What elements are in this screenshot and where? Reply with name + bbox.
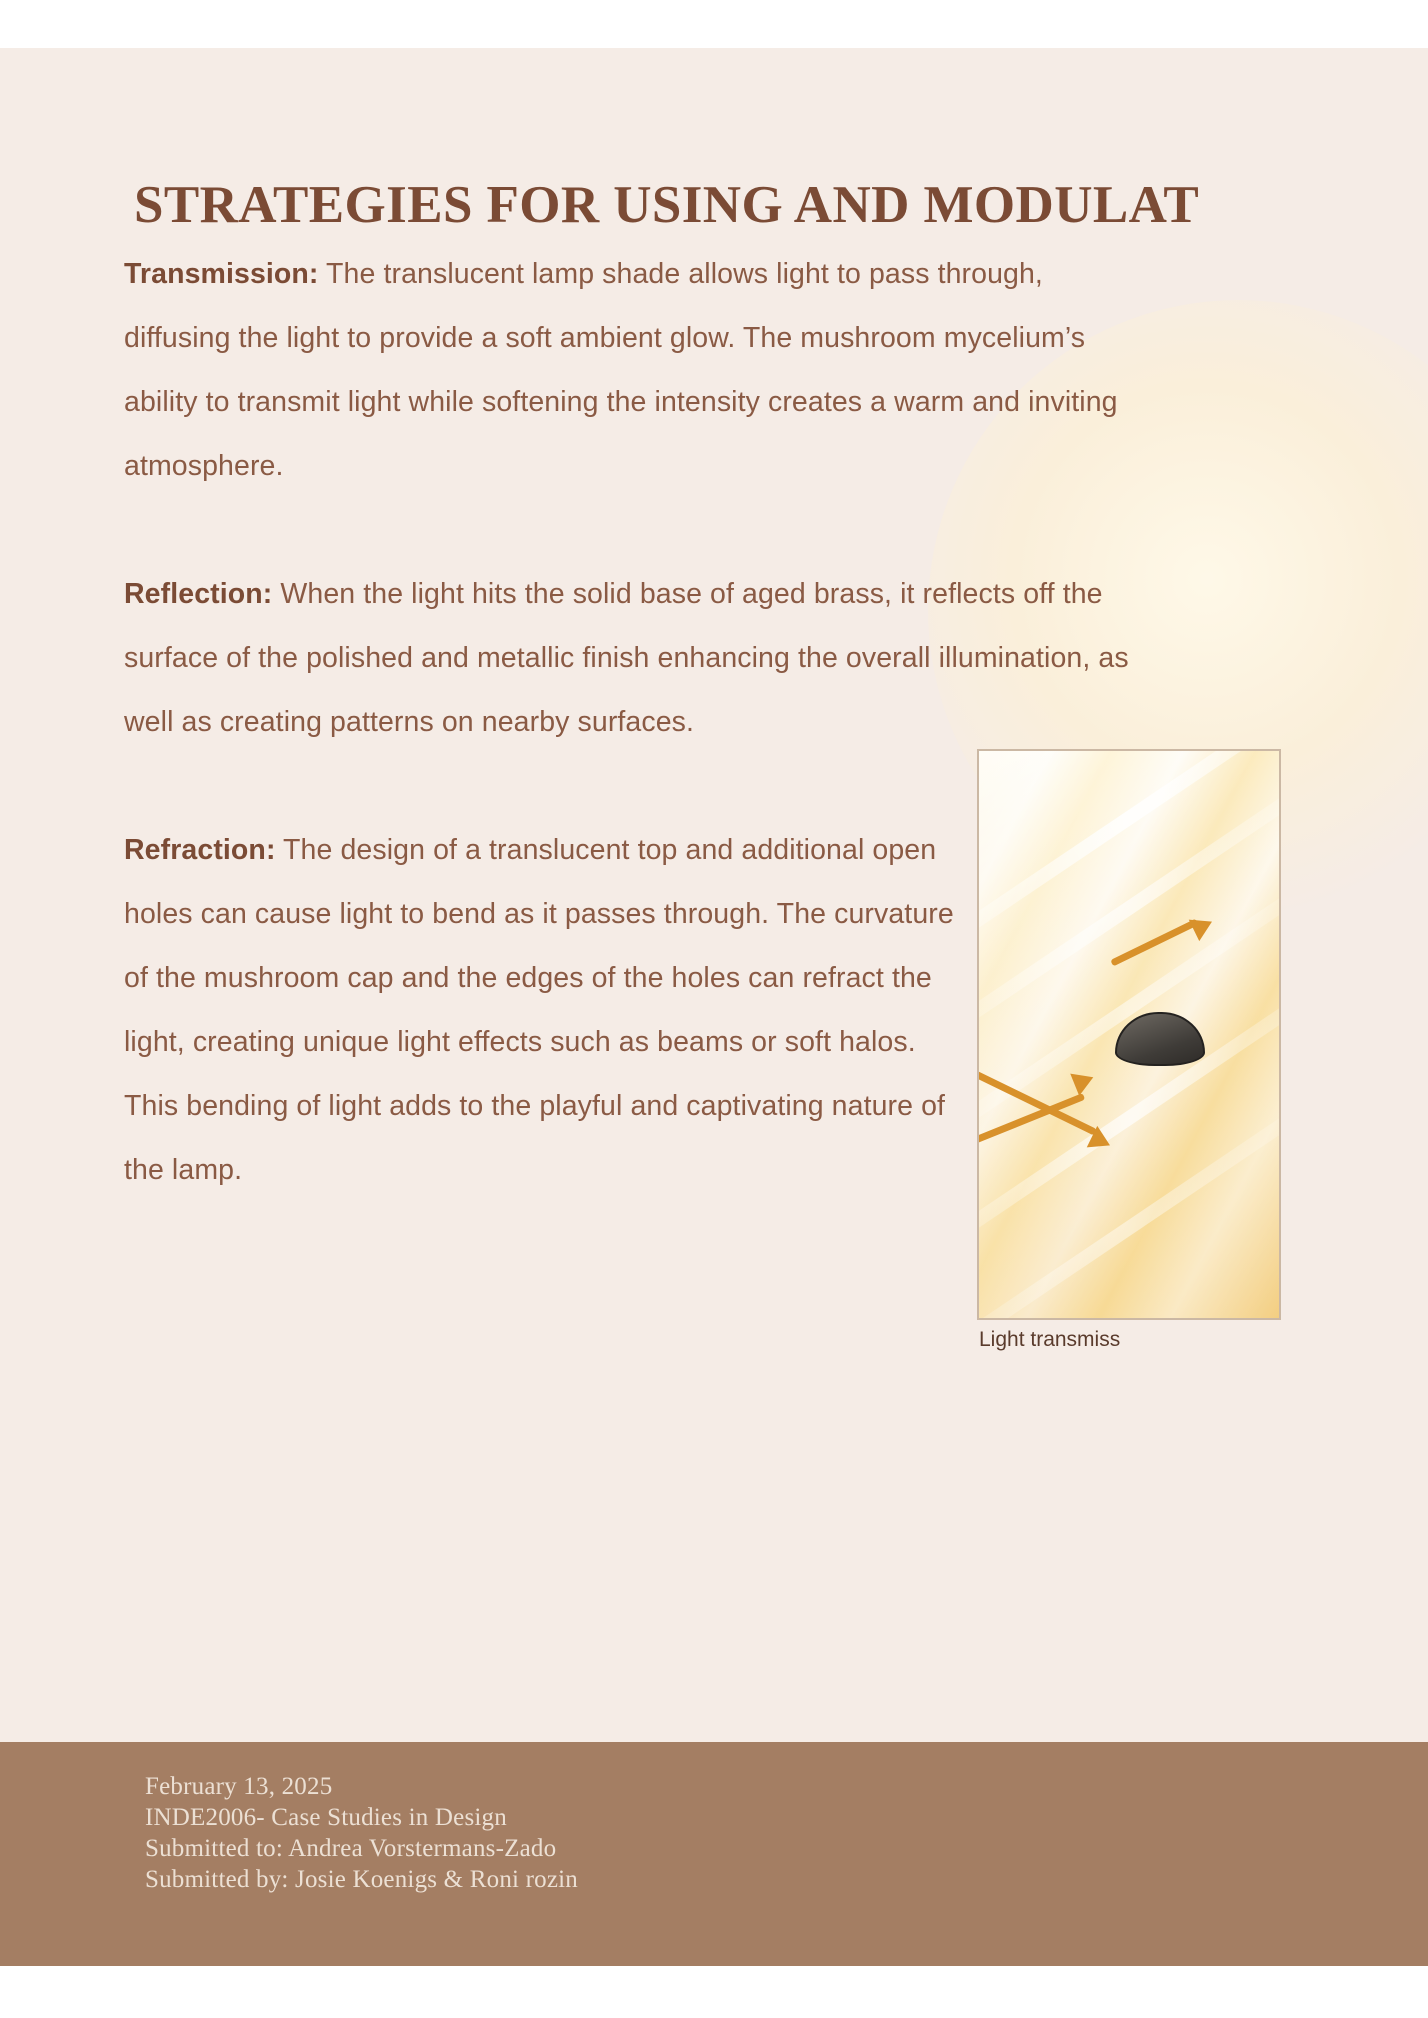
light-streak-icon [977, 751, 1281, 1065]
paragraph-lead-refraction: Refraction: [124, 834, 276, 866]
paragraph-text-refraction: The design of a translucent top and addi… [124, 834, 954, 1186]
footer-submitted-by: Submitted by: Josie Koenigs & Roni rozin [145, 1864, 578, 1895]
paragraph-reflection: Reflection: When the light hits the soli… [124, 562, 1132, 754]
slide-page: STRATEGIES FOR USING AND MODULAT Transmi… [0, 0, 1428, 2018]
paragraph-lead-reflection: Reflection: [124, 578, 272, 610]
arrow-head-icon [1070, 1066, 1098, 1096]
mushroom-cap-shape [1115, 1012, 1205, 1066]
figure-caption: Light transmiss [979, 1328, 1419, 1352]
paragraph-refraction: Refraction: The design of a translucent … [124, 818, 966, 1202]
footer-submitted-to: Submitted to: Andrea Vorstermans-Zado [145, 1833, 578, 1864]
paragraph-transmission: Transmission: The translucent lamp shade… [124, 242, 1132, 498]
light-ray-arrow-upper [1110, 919, 1198, 967]
page-bottom-margin [0, 1966, 1428, 2018]
paragraph-text-reflection: When the light hits the solid base of ag… [124, 578, 1129, 738]
paragraph-lead-transmission: Transmission: [124, 258, 319, 290]
light-transmission-figure [977, 749, 1281, 1320]
footer-date: February 13, 2025 [145, 1771, 578, 1802]
page-title: STRATEGIES FOR USING AND MODULAT [134, 179, 1428, 232]
footer-course: INDE2006- Case Studies in Design [145, 1802, 578, 1833]
page-top-margin [0, 0, 1428, 48]
footer-meta: February 13, 2025 INDE2006- Case Studies… [145, 1771, 578, 1895]
paragraph-text-transmission: The translucent lamp shade allows light … [124, 258, 1118, 482]
arrow-head-icon [1189, 911, 1217, 941]
